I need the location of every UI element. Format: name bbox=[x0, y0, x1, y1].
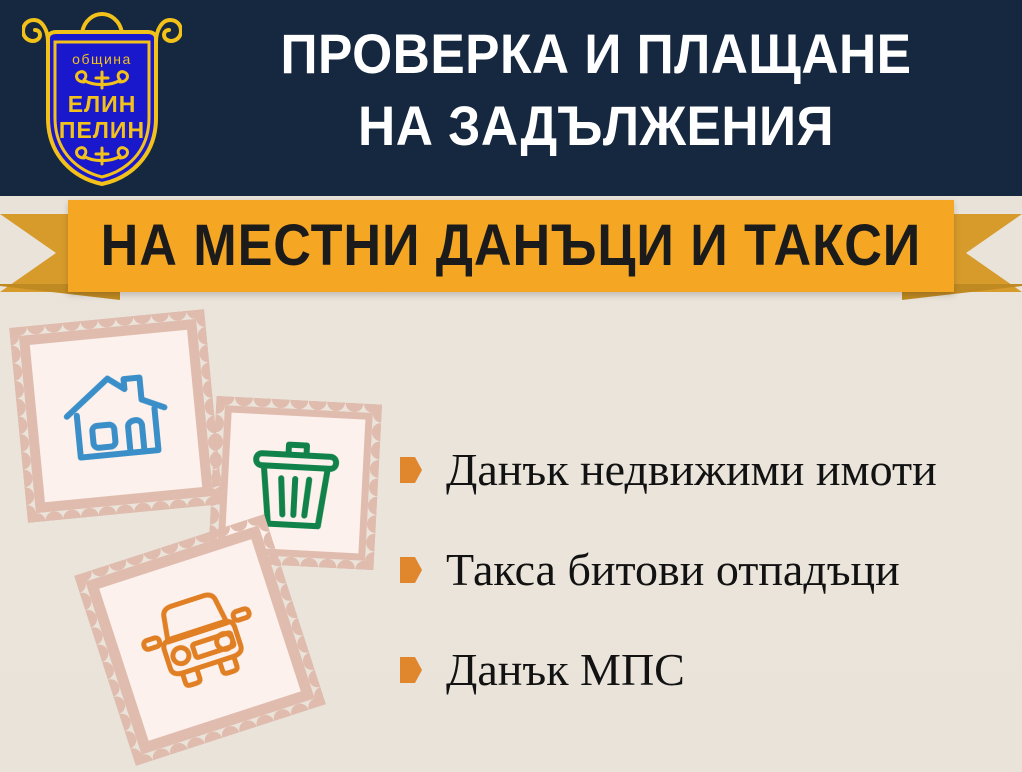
arrow-bullet-icon bbox=[400, 457, 422, 483]
ribbon-label: НА МЕСТНИ ДАНЪЦИ И ТАКСИ bbox=[101, 217, 922, 275]
page-title: ПРОВЕРКА И ПЛАЩАНЕ НА ЗАДЪЛЖЕНИЯ bbox=[222, 18, 969, 162]
list-item-label: Такса битови отпадъци bbox=[446, 544, 900, 596]
list-item[interactable]: Данък МПС bbox=[400, 620, 1010, 720]
arrow-bullet-icon bbox=[400, 557, 422, 583]
stamp-paper bbox=[99, 539, 301, 741]
list-item[interactable]: Такса битови отпадъци bbox=[400, 520, 1010, 620]
house-icon bbox=[57, 363, 176, 469]
ribbon-main-band: НА МЕСТНИ ДАНЪЦИ И ТАКСИ bbox=[68, 200, 954, 292]
coat-of-arms-icon: община ЕЛИН ПЕЛИН bbox=[22, 8, 182, 188]
list-item-label: Данък недвижими имоти bbox=[446, 444, 937, 496]
svg-text:ПЕЛИН: ПЕЛИН bbox=[59, 117, 145, 143]
header-banner: община ЕЛИН ПЕЛИН ПРОВЕРК bbox=[0, 0, 1022, 196]
tax-type-list: Данък недвижими имоти Такса битови отпад… bbox=[400, 420, 1010, 720]
subtitle-ribbon: НА МЕСТНИ ДАНЪЦИ И ТАКСИ bbox=[0, 196, 1022, 306]
svg-text:ЕЛИН: ЕЛИН bbox=[68, 91, 137, 117]
car-icon bbox=[130, 578, 271, 702]
poster-canvas: община ЕЛИН ПЕЛИН ПРОВЕРК bbox=[0, 0, 1022, 772]
stamp-paper bbox=[30, 330, 202, 502]
stamp-card-property bbox=[9, 309, 223, 523]
list-item-label: Данък МПС bbox=[446, 644, 685, 696]
arrow-bullet-icon bbox=[400, 657, 422, 683]
svg-text:община: община bbox=[72, 51, 132, 67]
list-item[interactable]: Данък недвижими имоти bbox=[400, 420, 1010, 520]
